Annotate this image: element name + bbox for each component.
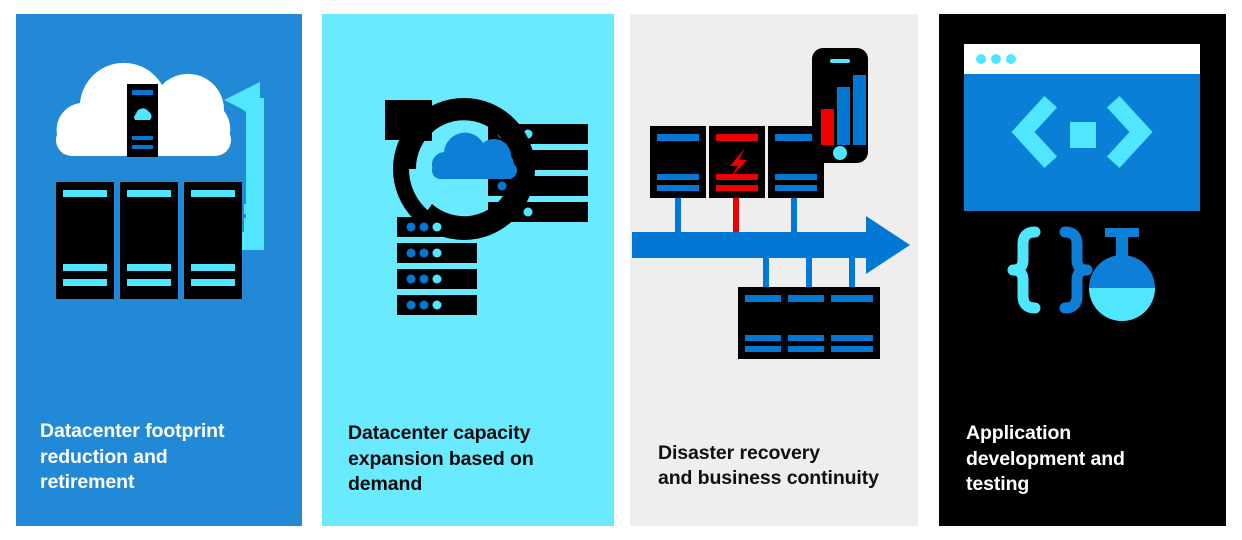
source-servers-icon bbox=[650, 126, 824, 198]
browser-dot-3 bbox=[1006, 54, 1016, 64]
panel-3-artwork bbox=[630, 14, 918, 434]
flask-icon bbox=[1089, 228, 1155, 328]
phone-home-button bbox=[833, 146, 847, 160]
chart-bar-red bbox=[821, 109, 834, 145]
cloud-server-icon bbox=[127, 84, 158, 157]
target-servers-icon bbox=[738, 287, 880, 359]
disaster-recovery-illustration bbox=[630, 14, 918, 434]
curly-braces-icon bbox=[1013, 232, 1087, 308]
panel-1-artwork bbox=[16, 14, 302, 434]
browser-dot-1 bbox=[976, 54, 986, 64]
panel-2-caption: Datacenter capacity expansion based on d… bbox=[322, 421, 614, 498]
panel-4-artwork bbox=[939, 14, 1226, 434]
phone-chart-icon bbox=[812, 48, 868, 163]
panel-datacenter-footprint-reduction[interactable]: Datacenter footprint reduction and retir… bbox=[16, 14, 302, 526]
cloud-migration-illustration bbox=[16, 14, 302, 434]
chart-bar-blue-2 bbox=[853, 75, 866, 145]
app-dev-illustration bbox=[939, 14, 1226, 434]
panel-2-artwork bbox=[322, 14, 614, 434]
panel-3-caption: Disaster recovery and business continuit… bbox=[630, 441, 918, 492]
panel-4-caption: Application development and testing bbox=[939, 421, 1226, 498]
server-bars-bottom-icon bbox=[397, 217, 477, 315]
code-square-icon bbox=[1070, 122, 1096, 148]
chart-bar-blue-1 bbox=[837, 87, 850, 145]
panel-1-caption: Datacenter footprint reduction and retir… bbox=[16, 419, 302, 496]
infographic-canvas: Datacenter footprint reduction and retir… bbox=[0, 0, 1242, 540]
server-rack-icon bbox=[56, 182, 242, 299]
panel-disaster-recovery[interactable]: Disaster recovery and business continuit… bbox=[630, 14, 918, 526]
browser-dot-2 bbox=[991, 54, 1001, 64]
panel-application-development-testing[interactable]: Application development and testing bbox=[939, 14, 1226, 526]
capacity-expansion-illustration bbox=[322, 14, 614, 434]
right-arrow-icon bbox=[632, 216, 910, 274]
brace-open-icon bbox=[1013, 232, 1035, 308]
panel-datacenter-capacity-expansion[interactable]: Datacenter capacity expansion based on d… bbox=[322, 14, 614, 526]
brace-close-icon bbox=[1065, 232, 1087, 308]
